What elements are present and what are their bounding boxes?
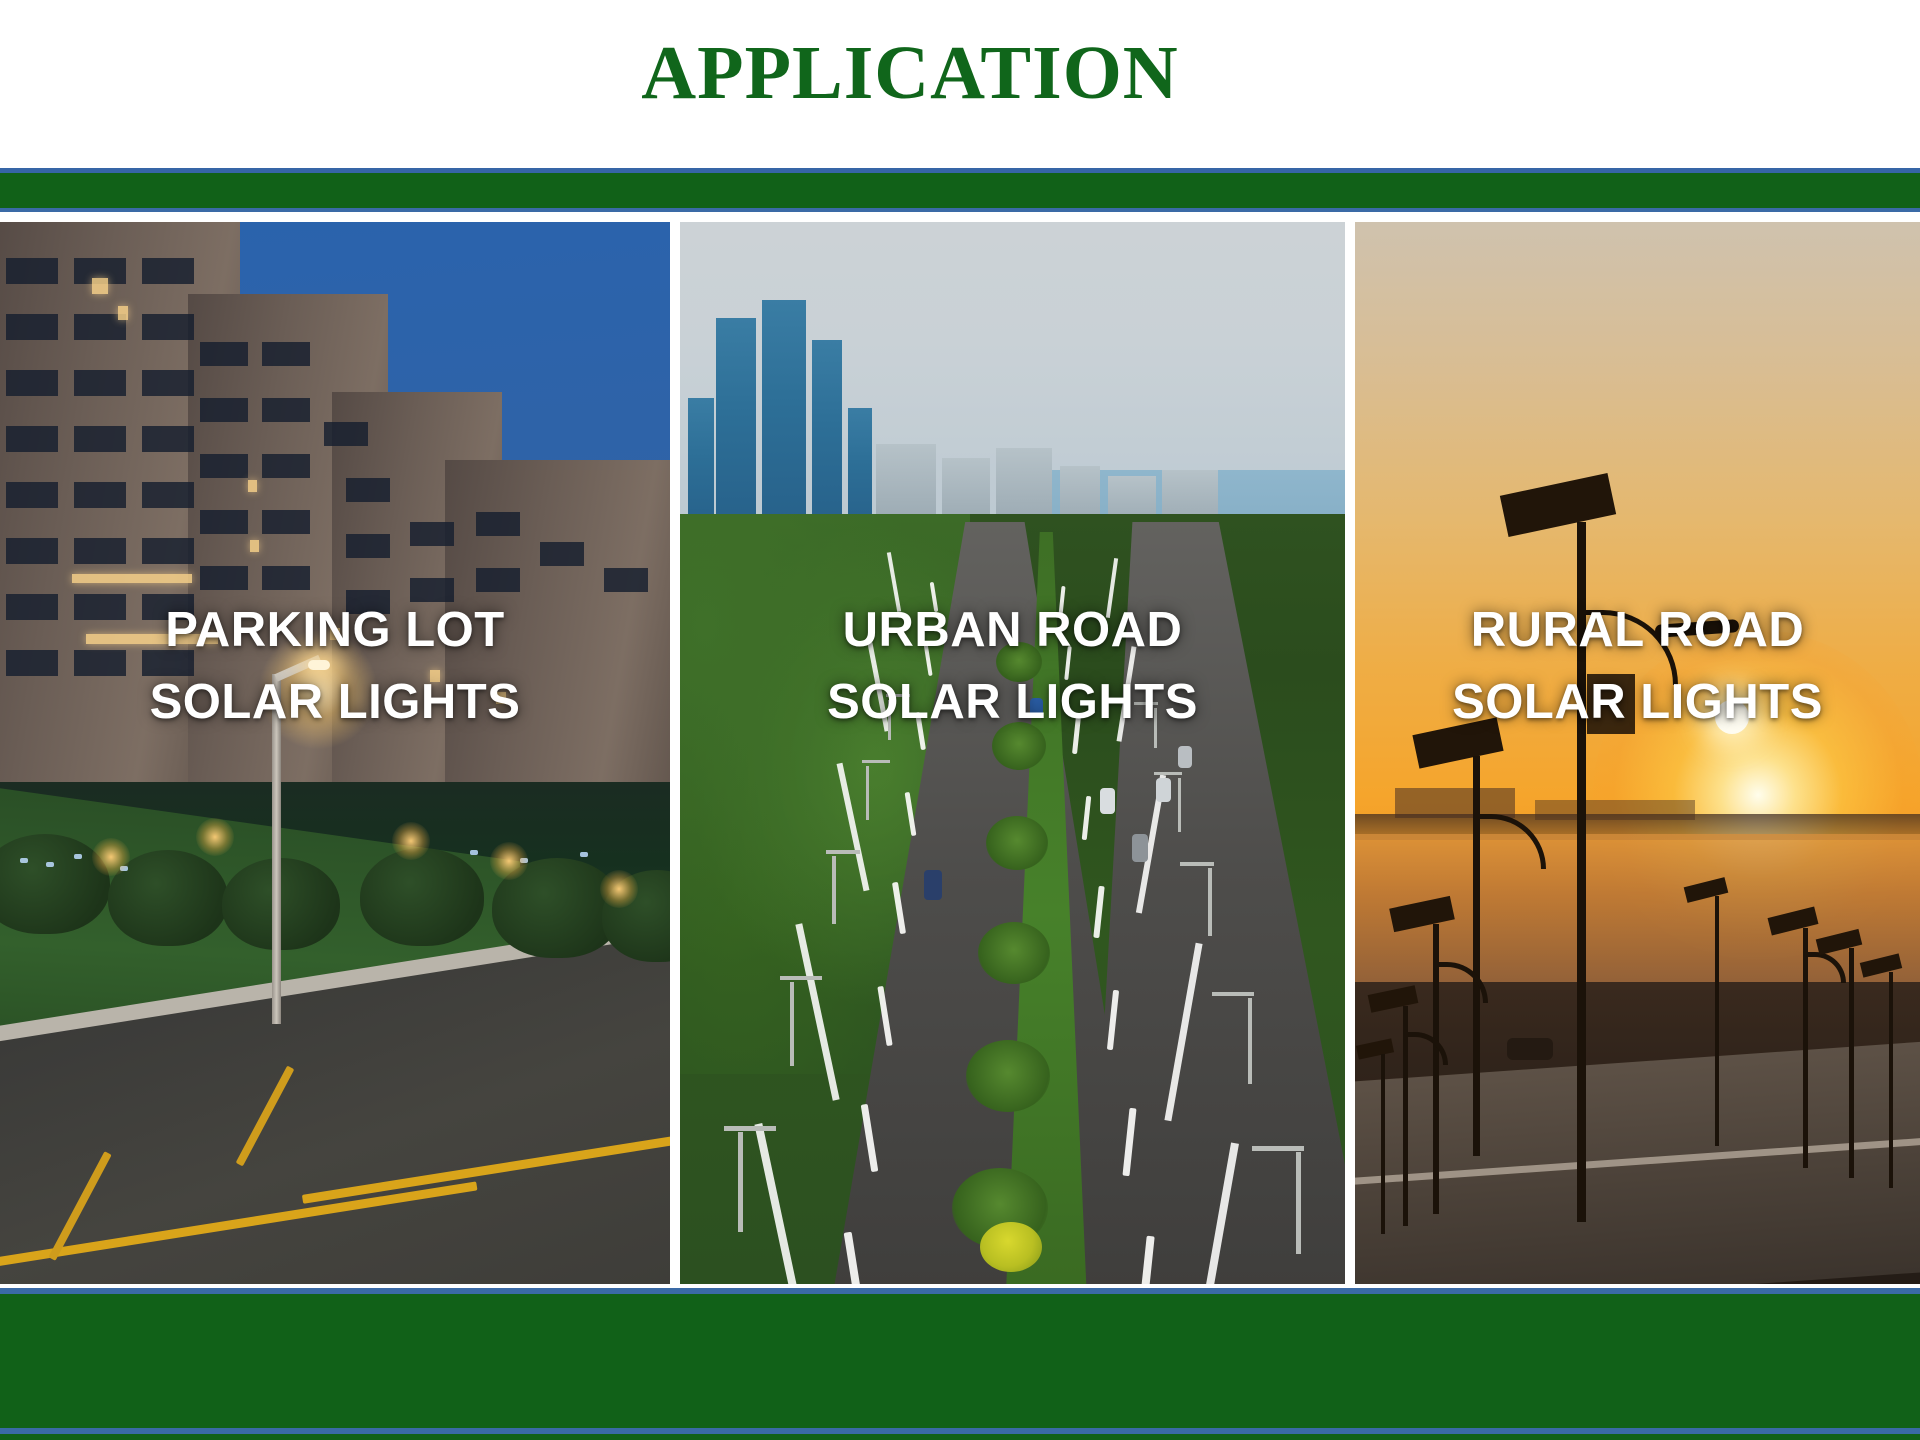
parking-lot-scene-image: [0, 222, 670, 1284]
panel-caption-urban-road: URBAN ROAD SOLAR LIGHTS: [680, 594, 1345, 738]
caption-line-1: PARKING LOT: [165, 603, 504, 657]
application-gallery: PARKING LOT SOLAR LIGHTS: [0, 222, 1920, 1284]
caption-line-2: SOLAR LIGHTS: [0, 666, 670, 738]
rural-road-scene-image: [1355, 222, 1920, 1284]
panel-caption-rural-road: RURAL ROAD SOLAR LIGHTS: [1355, 594, 1920, 738]
panel-caption-parking-lot: PARKING LOT SOLAR LIGHTS: [0, 594, 670, 738]
footer-band: [0, 1288, 1920, 1440]
gallery-panel-rural-road[interactable]: RURAL ROAD SOLAR LIGHTS: [1355, 222, 1920, 1284]
urban-road-scene-image: [680, 222, 1345, 1284]
footer-accent-rule: [0, 1428, 1920, 1434]
page-header: APPLICATION: [0, 0, 1920, 168]
gallery-panel-urban-road[interactable]: URBAN ROAD SOLAR LIGHTS: [680, 222, 1345, 1284]
header-divider-band: [0, 168, 1920, 212]
panel-divider-1: [670, 222, 680, 1284]
caption-line-2: SOLAR LIGHTS: [1355, 666, 1920, 738]
page-title: APPLICATION: [0, 30, 1820, 116]
caption-line-1: URBAN ROAD: [843, 603, 1183, 657]
caption-line-2: SOLAR LIGHTS: [680, 666, 1345, 738]
panel-divider-2: [1345, 222, 1355, 1284]
gallery-panel-parking-lot[interactable]: PARKING LOT SOLAR LIGHTS: [0, 222, 670, 1284]
caption-line-1: RURAL ROAD: [1471, 603, 1804, 657]
